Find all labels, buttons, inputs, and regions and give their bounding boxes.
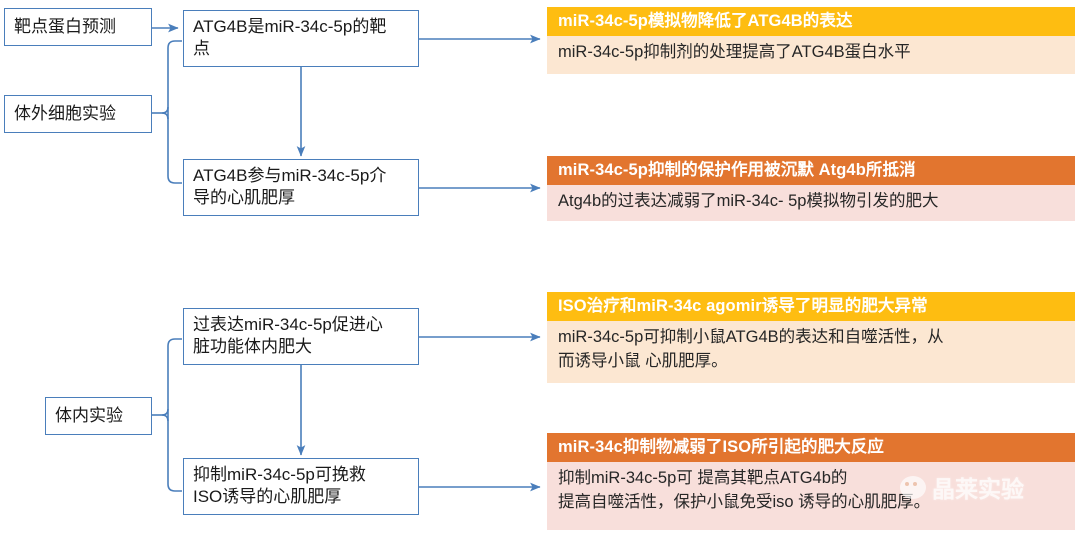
- result-panel-3-header: ISO治疗和miR-34c agomir诱导了明显的肥大异常: [547, 292, 1075, 321]
- result-panel-4[interactable]: miR-34c抑制物减弱了ISO所引起的肥大反应 抑制miR-34c-5p可 提…: [547, 433, 1075, 530]
- step-box-3[interactable]: 过表达miR-34c-5p促进心 脏功能体内肥大: [183, 308, 419, 365]
- result-panel-1-header: miR-34c-5p模拟物降低了ATG4B的表达: [547, 7, 1075, 36]
- result-panel-1[interactable]: miR-34c-5p模拟物降低了ATG4B的表达 miR-34c-5p抑制剂的处…: [547, 7, 1075, 74]
- category-box-in-vitro[interactable]: 体外细胞实验: [4, 95, 152, 133]
- result-panel-4-header: miR-34c抑制物减弱了ISO所引起的肥大反应: [547, 433, 1075, 462]
- category-box-target-prediction[interactable]: 靶点蛋白预测: [4, 8, 152, 46]
- result-panel-2-header: miR-34c-5p抑制的保护作用被沉默 Atg4b所抵消: [547, 156, 1075, 185]
- result-panel-3-body: miR-34c-5p可抑制小鼠ATG4B的表达和自噬活性，从 而诱导小鼠 心肌肥…: [547, 321, 1075, 383]
- step-box-1[interactable]: ATG4B是miR-34c-5p的靶 点: [183, 10, 419, 67]
- result-panel-2-body: Atg4b的过表达减弱了miR-34c- 5p模拟物引发的肥大: [547, 185, 1075, 221]
- category-box-in-vivo[interactable]: 体内实验: [45, 397, 152, 435]
- step-box-4[interactable]: 抑制miR-34c-5p可挽救 ISO诱导的心肌肥厚: [183, 458, 419, 515]
- step-box-2[interactable]: ATG4B参与miR-34c-5p介 导的心肌肥厚: [183, 159, 419, 216]
- result-panel-2[interactable]: miR-34c-5p抑制的保护作用被沉默 Atg4b所抵消 Atg4b的过表达减…: [547, 156, 1075, 221]
- result-panel-4-body: 抑制miR-34c-5p可 提高其靶点ATG4b的 提高自噬活性，保护小鼠免受i…: [547, 462, 1075, 530]
- result-panel-3[interactable]: ISO治疗和miR-34c agomir诱导了明显的肥大异常 miR-34c-5…: [547, 292, 1075, 383]
- result-panel-1-body: miR-34c-5p抑制剂的处理提高了ATG4B蛋白水平: [547, 36, 1075, 74]
- diagram-canvas: 靶点蛋白预测 体外细胞实验 体内实验 ATG4B是miR-34c-5p的靶 点 …: [0, 0, 1080, 535]
